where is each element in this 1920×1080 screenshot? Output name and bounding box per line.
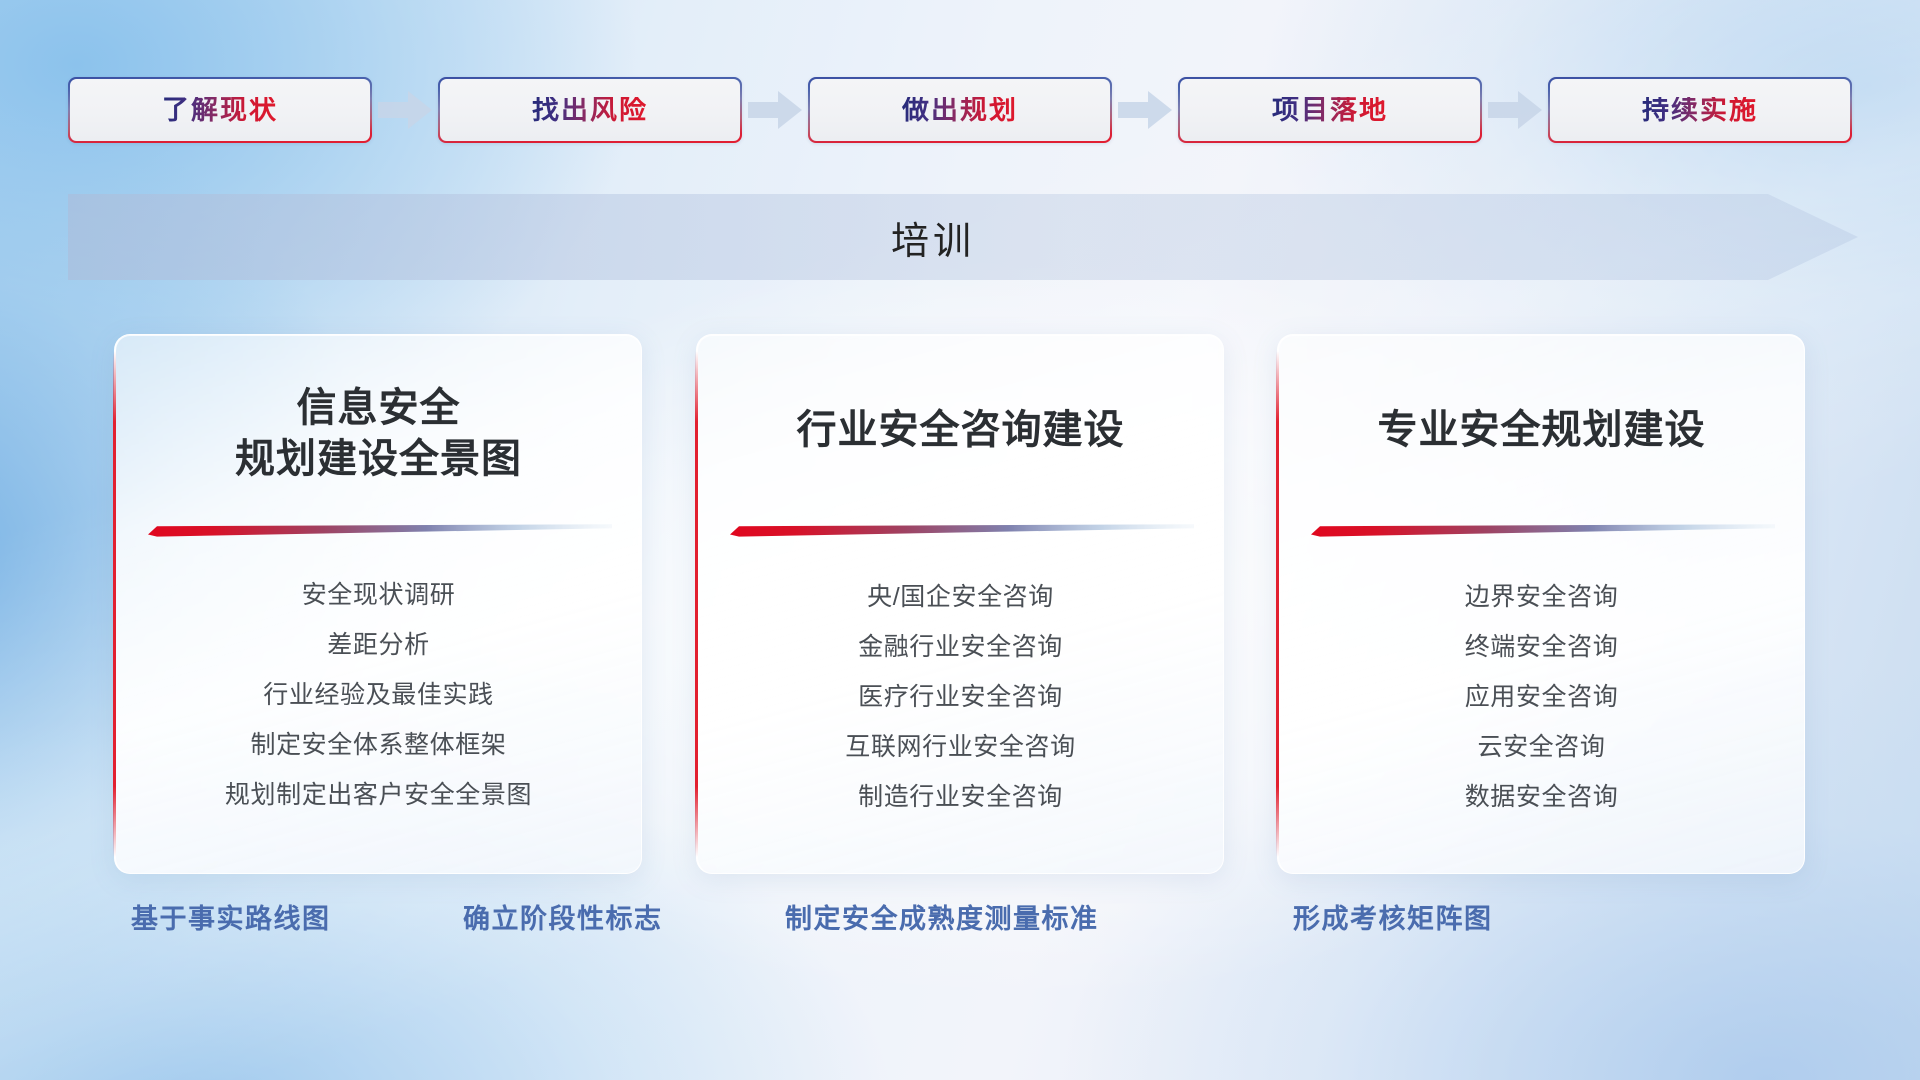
- training-banner: 培训: [68, 194, 1858, 280]
- cards-row: 信息安全 规划建设全景图 安全现状调研 差: [0, 334, 1920, 874]
- process-step-2-label: 找出风险: [532, 97, 648, 124]
- process-step-5-inner: 持续实施: [1550, 79, 1851, 142]
- card-2-divider: [730, 523, 1194, 539]
- training-banner-label: 培训: [68, 194, 1858, 280]
- process-step-5-label: 持续实施: [1642, 97, 1758, 124]
- card-2-title-line-1: 行业安全咨询建设: [698, 405, 1223, 456]
- process-step-5[interactable]: 持续实施: [1548, 77, 1852, 143]
- list-item[interactable]: 行业经验及最佳实践: [263, 671, 493, 721]
- card-1-title-line-2: 规划建设全景图: [116, 434, 641, 485]
- arrow-right-icon: [372, 90, 438, 130]
- list-item[interactable]: 规划制定出客户安全全景图: [225, 771, 532, 821]
- card-3-item-list: 边界安全咨询 终端安全咨询 应用安全咨询 云安全咨询 数据安全咨询: [1279, 573, 1804, 823]
- list-item[interactable]: 云安全咨询: [1477, 723, 1605, 773]
- arrow-right-icon: [742, 90, 808, 130]
- card-information-security-blueprint[interactable]: 信息安全 规划建设全景图 安全现状调研 差: [114, 334, 642, 874]
- process-step-1-inner: 了解现状: [70, 79, 371, 142]
- card-2-title: 行业安全咨询建设: [698, 405, 1223, 456]
- card-3-divider: [1311, 523, 1775, 539]
- list-item[interactable]: 边界安全咨询: [1465, 573, 1619, 623]
- list-item[interactable]: 应用安全咨询: [1465, 673, 1619, 723]
- process-step-4[interactable]: 项目落地: [1178, 77, 1482, 143]
- bottom-label-assessment-matrix: 形成考核矩阵图: [1293, 906, 1493, 933]
- card-1-title: 信息安全 规划建设全景图: [116, 383, 641, 485]
- list-item[interactable]: 央/国企安全咨询: [867, 573, 1054, 623]
- card-2-item-list: 央/国企安全咨询 金融行业安全咨询 医疗行业安全咨询 互联网行业安全咨询 制造行…: [698, 573, 1223, 823]
- process-step-row: 了解现状 找出风险 做出规划 项目落地 持续实施: [68, 76, 1860, 144]
- bottom-label-milestones: 确立阶段性标志: [463, 906, 663, 933]
- process-step-4-label: 项目落地: [1272, 97, 1388, 124]
- list-item[interactable]: 医疗行业安全咨询: [858, 673, 1063, 723]
- process-step-3[interactable]: 做出规划: [808, 77, 1112, 143]
- process-step-3-label: 做出规划: [902, 97, 1018, 124]
- arrow-right-icon: [1112, 90, 1178, 130]
- card-1-item-list: 安全现状调研 差距分析 行业经验及最佳实践 制定安全体系整体框架 规划制定出客户…: [116, 571, 641, 821]
- list-item[interactable]: 安全现状调研: [302, 571, 456, 621]
- card-1-title-line-1: 信息安全: [116, 383, 641, 434]
- card-1-divider: [148, 523, 612, 539]
- card-industry-security-consulting[interactable]: 行业安全咨询建设 央/国企安全咨询 金融行业安全咨询: [696, 334, 1224, 874]
- process-step-3-inner: 做出规划: [810, 79, 1111, 142]
- process-step-2[interactable]: 找出风险: [438, 77, 742, 143]
- list-item[interactable]: 制定安全体系整体框架: [250, 721, 506, 771]
- process-step-4-inner: 项目落地: [1180, 79, 1481, 142]
- process-step-2-inner: 找出风险: [440, 79, 741, 142]
- list-item[interactable]: 终端安全咨询: [1465, 623, 1619, 673]
- card-professional-security-planning[interactable]: 专业安全规划建设 边界安全咨询 终端安全咨询: [1277, 334, 1805, 874]
- list-item[interactable]: 互联网行业安全咨询: [845, 723, 1075, 773]
- list-item[interactable]: 金融行业安全咨询: [858, 623, 1063, 673]
- card-3-title: 专业安全规划建设: [1279, 405, 1804, 456]
- list-item[interactable]: 差距分析: [327, 621, 429, 671]
- process-step-1[interactable]: 了解现状: [68, 77, 372, 143]
- bottom-label-row: 基于事实路线图 确立阶段性标志 制定安全成熟度测量标准 形成考核矩阵图: [0, 906, 1920, 966]
- card-3-title-line-1: 专业安全规划建设: [1279, 405, 1804, 456]
- bottom-label-maturity-standard: 制定安全成熟度测量标准: [785, 906, 1099, 933]
- process-step-1-label: 了解现状: [162, 97, 278, 124]
- list-item[interactable]: 数据安全咨询: [1465, 773, 1619, 823]
- list-item[interactable]: 制造行业安全咨询: [858, 773, 1063, 823]
- arrow-right-icon: [1482, 90, 1548, 130]
- bottom-label-roadmap: 基于事实路线图: [131, 906, 331, 933]
